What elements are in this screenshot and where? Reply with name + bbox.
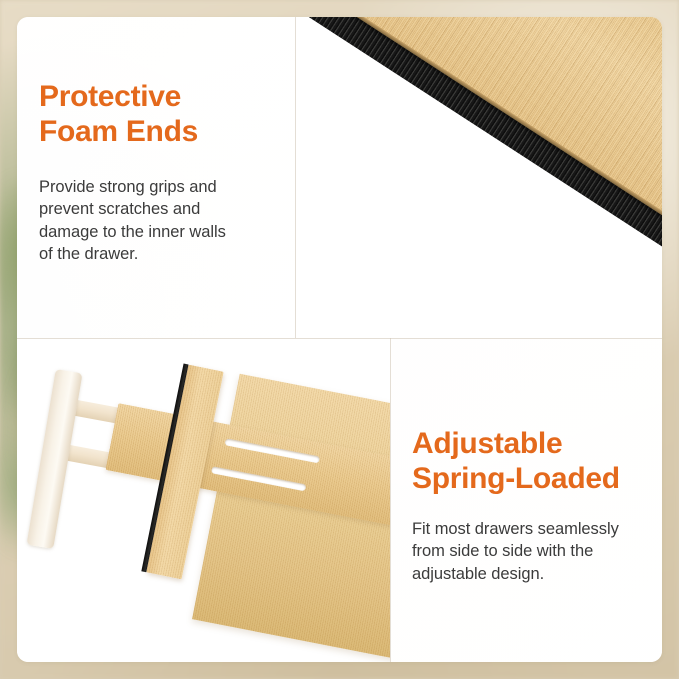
feature-card: Protective Foam Ends Provide strong grip… [17, 17, 662, 662]
panel-protective-foam-ends: Protective Foam Ends Provide strong grip… [17, 17, 295, 338]
panel-adjustable-spring-loaded: Adjustable Spring-Loaded Fit most drawer… [390, 338, 662, 662]
adjustment-slot-lower [211, 466, 307, 491]
adjustment-slot-upper [224, 438, 320, 463]
body-adjustable-spring-loaded: Fit most drawers seamlessly from side to… [412, 518, 662, 585]
headline-protective-foam-ends: Protective Foam Ends [39, 79, 289, 150]
panel-seam-horizontal [17, 338, 662, 339]
panel-seam-vertical-top [295, 17, 296, 338]
photo-divider-assembly [17, 338, 390, 662]
photo-bamboo-board [295, 17, 662, 338]
body-protective-foam-ends: Provide strong grips and prevent scratch… [39, 176, 291, 266]
product-feature-graphic: Protective Foam Ends Provide strong grip… [0, 0, 679, 679]
headline-adjustable-spring-loaded: Adjustable Spring-Loaded [412, 426, 660, 497]
divider-assembly [17, 338, 390, 662]
bamboo-board [295, 17, 662, 338]
panel-seam-vertical-bottom [390, 338, 391, 662]
